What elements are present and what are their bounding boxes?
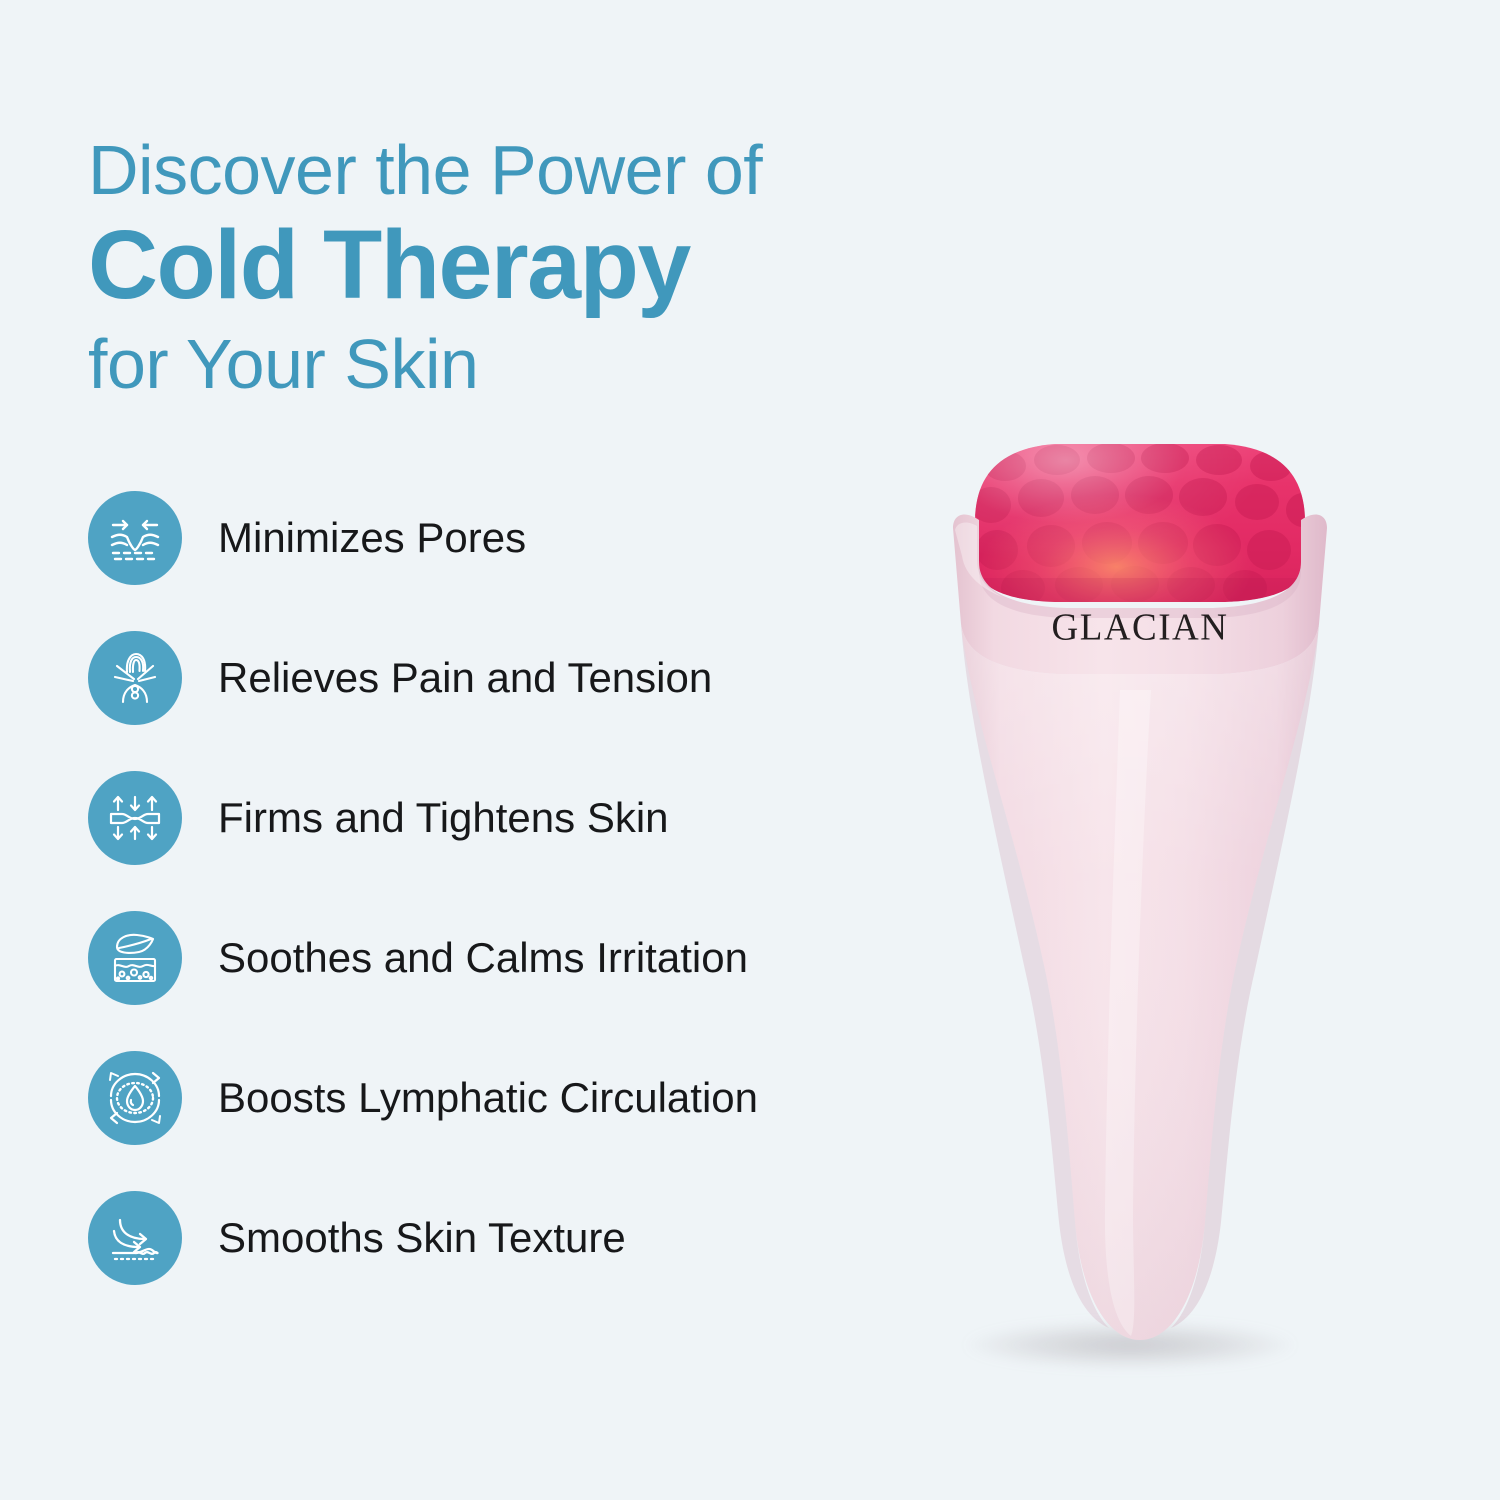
smooth-texture-arrows-icon — [88, 1191, 182, 1285]
headline-line-1: Discover the Power of — [88, 128, 908, 212]
feature-list: Minimizes Pores Relieves Pain and Tensio… — [88, 488, 968, 1328]
feature-label: Boosts Lymphatic Circulation — [218, 1074, 758, 1122]
roller-head — [965, 430, 1325, 622]
headline-line-3: for Your Skin — [88, 318, 908, 410]
feature-item-firms-tightens: Firms and Tightens Skin — [88, 768, 968, 868]
feature-item-relieves-pain: Relieves Pain and Tension — [88, 628, 968, 728]
pore-minimize-icon — [88, 491, 182, 585]
headline-block: Discover the Power of Cold Therapy for Y… — [88, 128, 908, 410]
feature-item-minimizes-pores: Minimizes Pores — [88, 488, 968, 588]
feature-item-smooths-texture: Smooths Skin Texture — [88, 1188, 968, 1288]
headline-line-2: Cold Therapy — [88, 212, 908, 318]
feature-item-soothes-calms: Soothes and Calms Irritation — [88, 908, 968, 1008]
product-image: GLACIAN — [905, 410, 1375, 1370]
feature-label: Relieves Pain and Tension — [218, 654, 712, 702]
feature-label: Smooths Skin Texture — [218, 1214, 626, 1262]
feature-label: Soothes and Calms Irritation — [218, 934, 748, 982]
brand-logo-text: GLACIAN — [905, 605, 1375, 649]
feature-item-boosts-circulation: Boosts Lymphatic Circulation — [88, 1048, 968, 1148]
feature-label: Firms and Tightens Skin — [218, 794, 669, 842]
droplet-circulation-icon — [88, 1051, 182, 1145]
head-neck-pain-icon — [88, 631, 182, 725]
leaf-skin-layer-icon — [88, 911, 182, 1005]
roller-handle — [961, 624, 1319, 1340]
feature-label: Minimizes Pores — [218, 514, 526, 562]
skin-tighten-arrows-icon — [88, 771, 182, 865]
ice-roller-illustration — [905, 410, 1375, 1370]
infographic-canvas: Discover the Power of Cold Therapy for Y… — [0, 0, 1500, 1500]
